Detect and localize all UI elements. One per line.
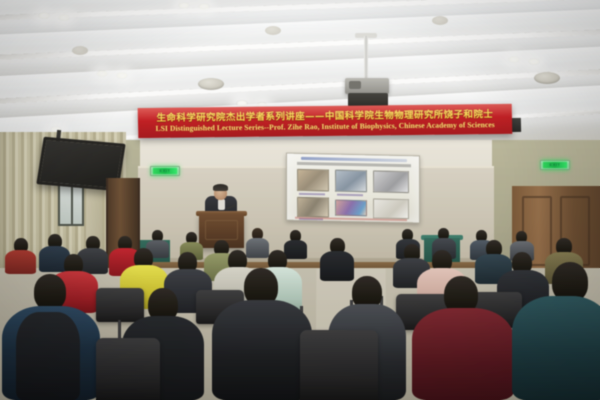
torso bbox=[246, 238, 269, 258]
head bbox=[34, 274, 66, 310]
torso bbox=[512, 296, 600, 400]
vest bbox=[16, 312, 80, 400]
lecture-hall-photo: EXIT EXIT 生命科学研究院杰出学者系列讲座——中国科学院生物物理研究所饶… bbox=[0, 0, 600, 400]
chair bbox=[96, 338, 160, 400]
torso bbox=[5, 250, 36, 274]
audience bbox=[0, 0, 600, 400]
torso bbox=[284, 240, 307, 259]
chair bbox=[300, 330, 378, 400]
torso bbox=[212, 300, 312, 400]
torso bbox=[412, 308, 514, 400]
torso bbox=[320, 251, 354, 281]
chair bbox=[96, 288, 144, 322]
